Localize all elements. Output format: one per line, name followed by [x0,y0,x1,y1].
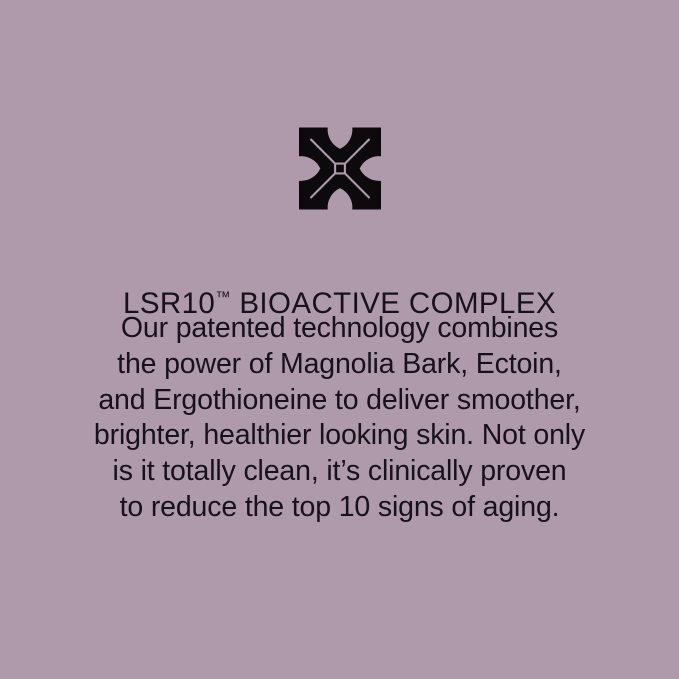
product-info-card: LSR10™ BIOACTIVE COMPLEX Our patented te… [0,0,679,679]
copy-line: to reduce the top 10 signs of aging. [0,490,679,526]
copy-line: is it totally clean, it’s clinically pro… [0,454,679,490]
copy-line: Our patented technology combines [0,311,679,347]
logo-container [0,127,679,210]
trademark-symbol: ™ [215,289,231,306]
quatrefoil-x-logo-icon [299,127,381,210]
body-copy: Our patented technology combines the pow… [0,311,679,526]
copy-line: and Ergothioneine to deliver smoother, [0,383,679,419]
copy-line: brighter, healthier looking skin. Not on… [0,418,679,454]
copy-line: the power of Magnolia Bark, Ectoin, [0,347,679,383]
